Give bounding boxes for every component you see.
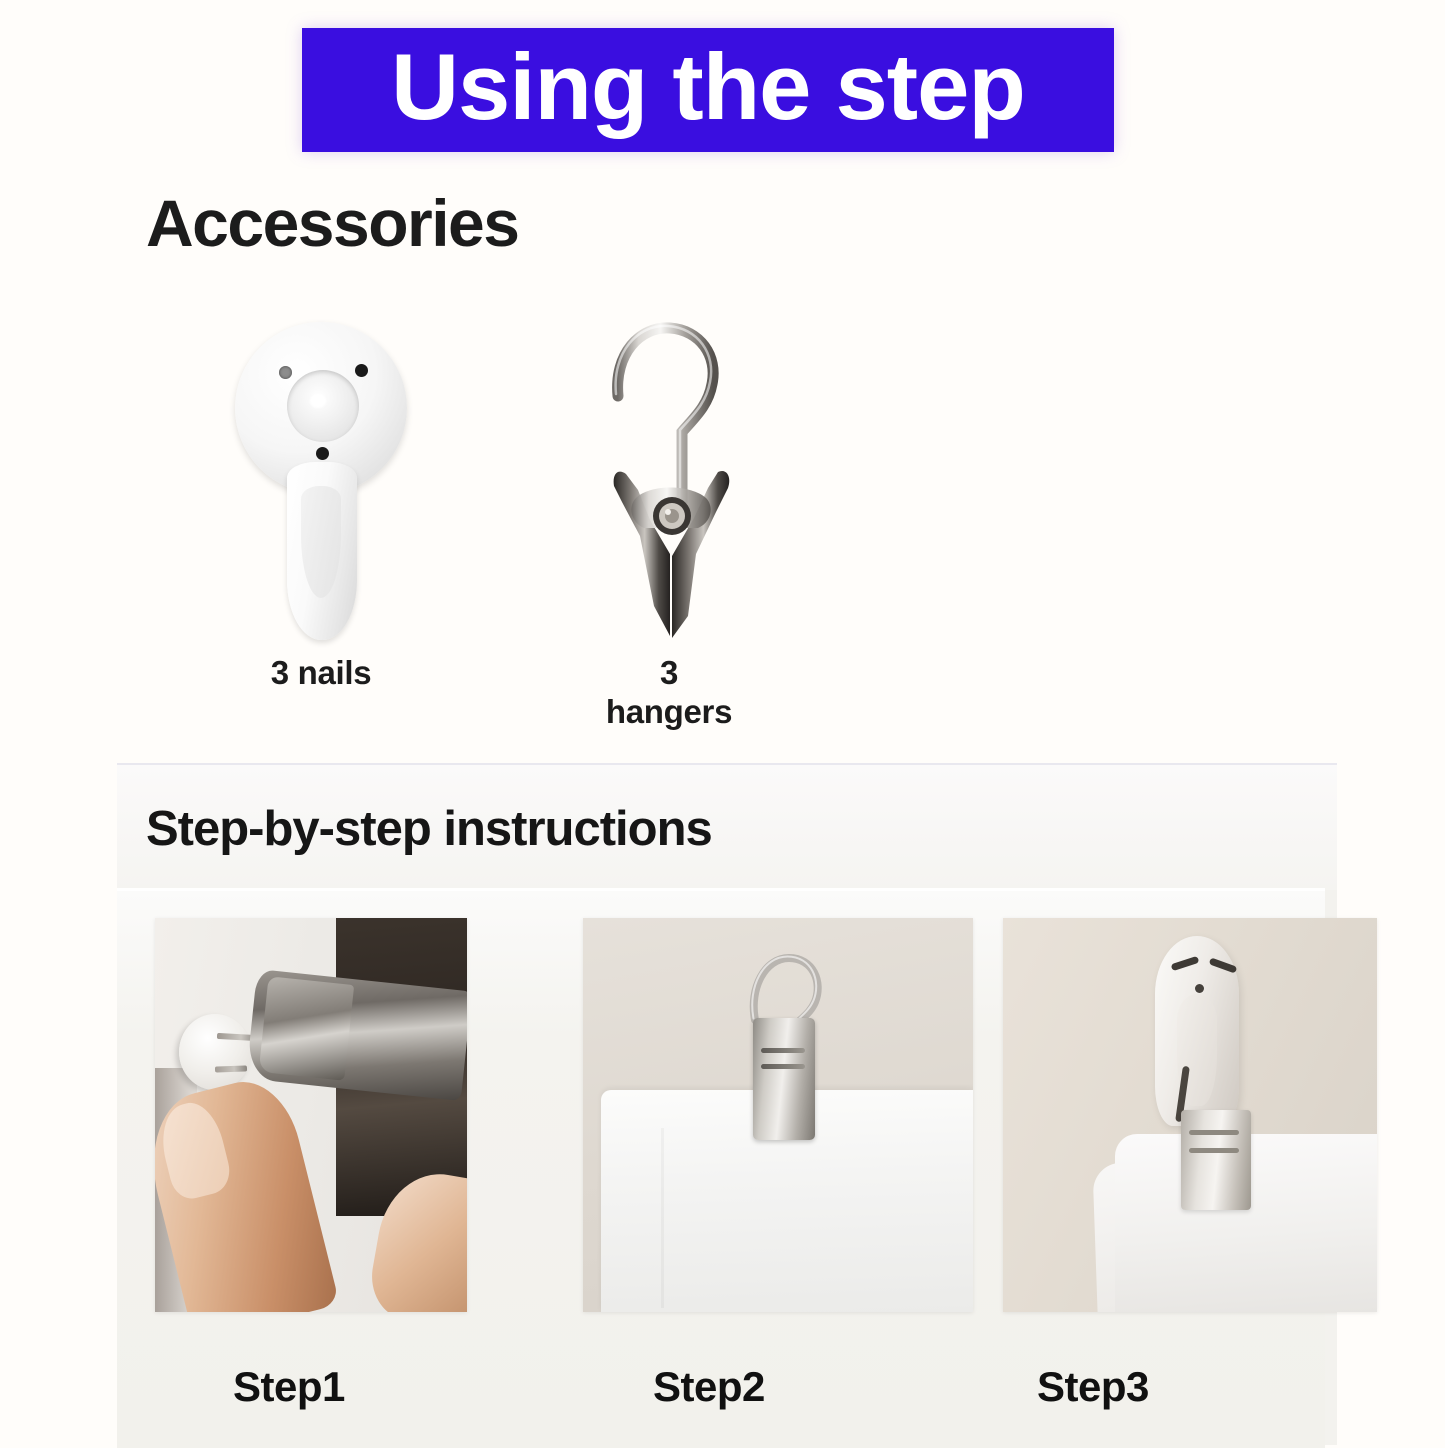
step-caption-1: Step1 bbox=[233, 1366, 345, 1408]
nail-hole-3 bbox=[316, 447, 329, 460]
accessory-label-hangers-line2: hangers bbox=[606, 693, 732, 730]
clip-ridge-1 bbox=[761, 1048, 805, 1053]
hook-tongue bbox=[287, 462, 357, 640]
nail-hole-1 bbox=[279, 366, 292, 379]
step-caption-2: Step2 bbox=[653, 1366, 765, 1408]
accessory-item-nails: 3 nails bbox=[228, 322, 414, 693]
wall-hook-icon bbox=[228, 322, 414, 640]
page-title-banner: Using the step bbox=[302, 28, 1114, 152]
clip-ridge-2 bbox=[761, 1064, 805, 1069]
hanger-clip-svg bbox=[578, 306, 760, 646]
hanger-clip-icon bbox=[578, 306, 760, 646]
accessory-label-hangers: 3 hangers bbox=[606, 654, 732, 732]
step-photo-3 bbox=[1003, 918, 1377, 1312]
hanger-clip-on-curtain bbox=[731, 942, 841, 1037]
step-cell-2: Step2 bbox=[583, 918, 1003, 1312]
step-cell-3: Step3 bbox=[1003, 918, 1315, 1312]
clip-body bbox=[753, 1018, 815, 1140]
step-photo-1 bbox=[155, 918, 467, 1312]
step-caption-3: Step3 bbox=[1037, 1366, 1149, 1408]
step-photo-2 bbox=[583, 918, 973, 1312]
nail-2 bbox=[215, 1065, 247, 1072]
instructions-heading: Step-by-step instructions bbox=[146, 805, 712, 854]
accessories-heading: Accessories bbox=[146, 190, 518, 256]
hook-disc-glint bbox=[310, 394, 326, 408]
instructions-panel: Step-by-step instructions Step1 bbox=[117, 763, 1337, 1445]
page-title: Using the step bbox=[391, 40, 1025, 134]
accessory-label-hangers-line1: 3 bbox=[660, 654, 678, 691]
nail-hole-2 bbox=[355, 364, 368, 377]
wall-hook-disc bbox=[179, 1014, 251, 1090]
clip-ridge-2 bbox=[1189, 1148, 1239, 1153]
hook-nail-hole bbox=[1195, 984, 1204, 993]
steps-row: Step1 Step2 bbox=[155, 918, 1315, 1312]
step-cell-1: Step1 bbox=[155, 918, 583, 1312]
clip-ridge-1 bbox=[1189, 1130, 1239, 1135]
hammer-icon bbox=[246, 969, 467, 1101]
hanger-clip-body bbox=[1181, 1110, 1251, 1210]
accessory-item-hangers: 3 hangers bbox=[578, 306, 760, 732]
accessory-label-nails: 3 nails bbox=[271, 654, 372, 693]
